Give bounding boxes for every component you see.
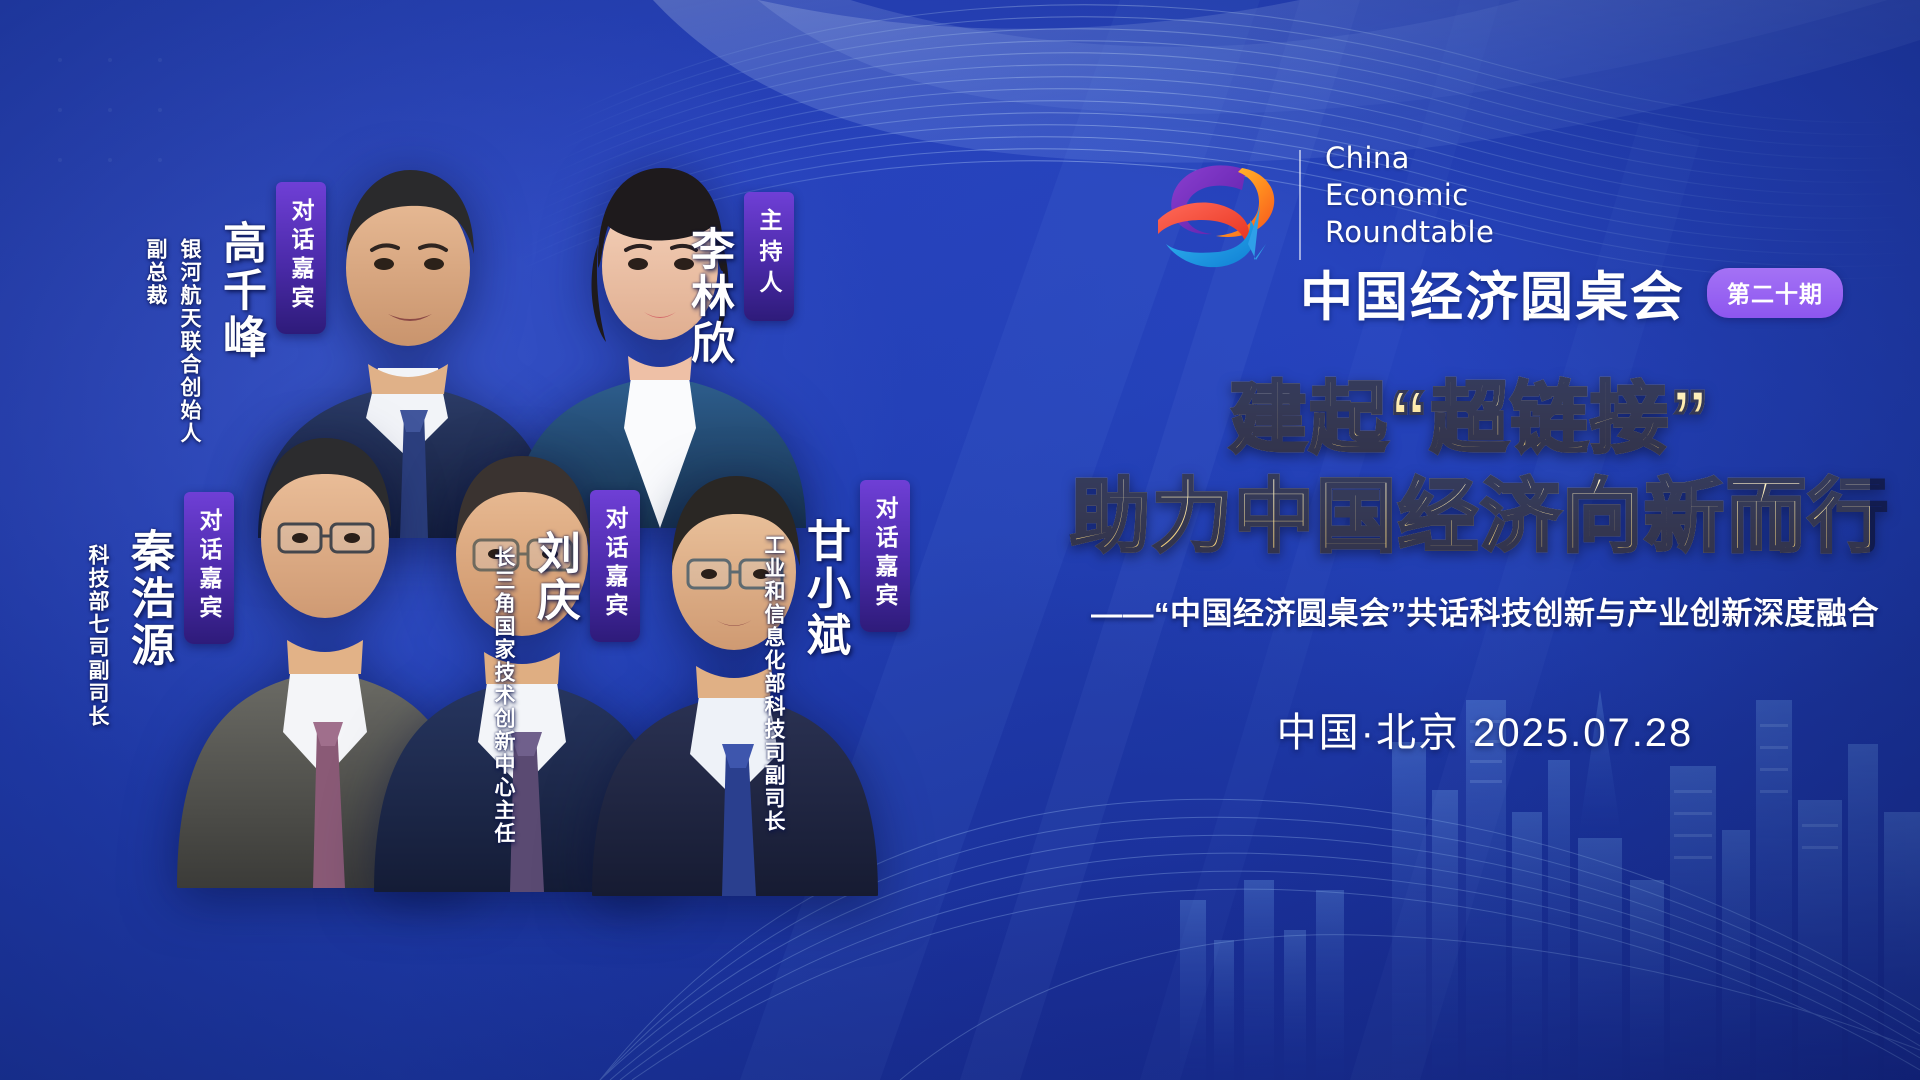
person-name-liu-qing: 刘庆: [522, 530, 586, 624]
person-role-gao-qianfeng-1: 银河航天联合创始人: [174, 238, 204, 445]
person-role-liu-qing-1: 长三角国家技术创新中心主任: [488, 546, 518, 845]
headline-block: 建起“超链接” 助力中国经济向新而行: [1070, 372, 1870, 564]
china-economic-roundtable-e-logo-icon: [1150, 148, 1285, 283]
name-plate-qin-haoyuan: 对话嘉宾 秦浩源 科技部七司副司长: [82, 492, 234, 728]
brand-chinese-name: 中国经济圆桌会: [1300, 255, 1685, 331]
ribbon-swoosh-top: [620, 0, 1920, 163]
headline-line-2: 助力中国经济向新而行: [1070, 470, 1870, 564]
person-name-gan-xiaobin: 甘小斌: [792, 518, 856, 659]
brand-en-line-3: Roundtable: [1325, 214, 1494, 251]
role-badge-qin-haoyuan: 对话嘉宾: [184, 492, 234, 644]
role-badge-li-linxin: 主持人: [744, 192, 794, 321]
event-location-date: 中国·北京 2025.07.28: [1070, 700, 1900, 758]
headline-line-1: 建起“超链接”: [1070, 372, 1870, 464]
brand-en-line-2: Economic: [1325, 177, 1494, 214]
dot-grid: [58, 58, 162, 162]
person-name-li-linxin: 李林欣: [676, 226, 740, 367]
logo-divider: [1299, 150, 1301, 260]
person-name-gao-qianfeng: 高千峰: [208, 220, 272, 361]
name-plate-gan-xiaobin: 对话嘉宾 甘小斌 工业和信息化部科技司副司长: [758, 480, 910, 833]
person-role-gao-qianfeng-2: 副总裁: [140, 238, 170, 307]
role-badge-gao-qianfeng: 对话嘉宾: [276, 182, 326, 334]
subtitle-text: ——“中国经济圆桌会”共话科技创新与产业创新深度融合: [1070, 588, 1900, 633]
name-plate-gao-qianfeng: 对话嘉宾 高千峰 银河航天联合创始人 副总裁: [140, 182, 326, 445]
poster-canvas: 对话嘉宾 高千峰 银河航天联合创始人 副总裁 主持人 李林欣 对话嘉宾 秦浩源 …: [0, 0, 1920, 1080]
brand-en-line-1: China: [1325, 140, 1494, 177]
issue-number-badge: 第二十期: [1707, 268, 1843, 318]
name-plate-liu-qing: 对话嘉宾 刘庆 长三角国家技术创新中心主任: [488, 490, 640, 845]
role-badge-liu-qing: 对话嘉宾: [590, 490, 640, 642]
brand-chinese-row: 中国经济圆桌会 第二十期: [1300, 255, 1843, 331]
brand-english-name: China Economic Roundtable: [1325, 140, 1494, 251]
person-role-qin-haoyuan-1: 科技部七司副司长: [82, 544, 112, 728]
person-name-qin-haoyuan: 秦浩源: [116, 528, 180, 669]
person-role-gan-xiaobin-1: 工业和信息化部科技司副司长: [758, 534, 788, 833]
name-plate-li-linxin: 主持人 李林欣: [676, 192, 794, 367]
role-badge-gan-xiaobin: 对话嘉宾: [860, 480, 910, 632]
